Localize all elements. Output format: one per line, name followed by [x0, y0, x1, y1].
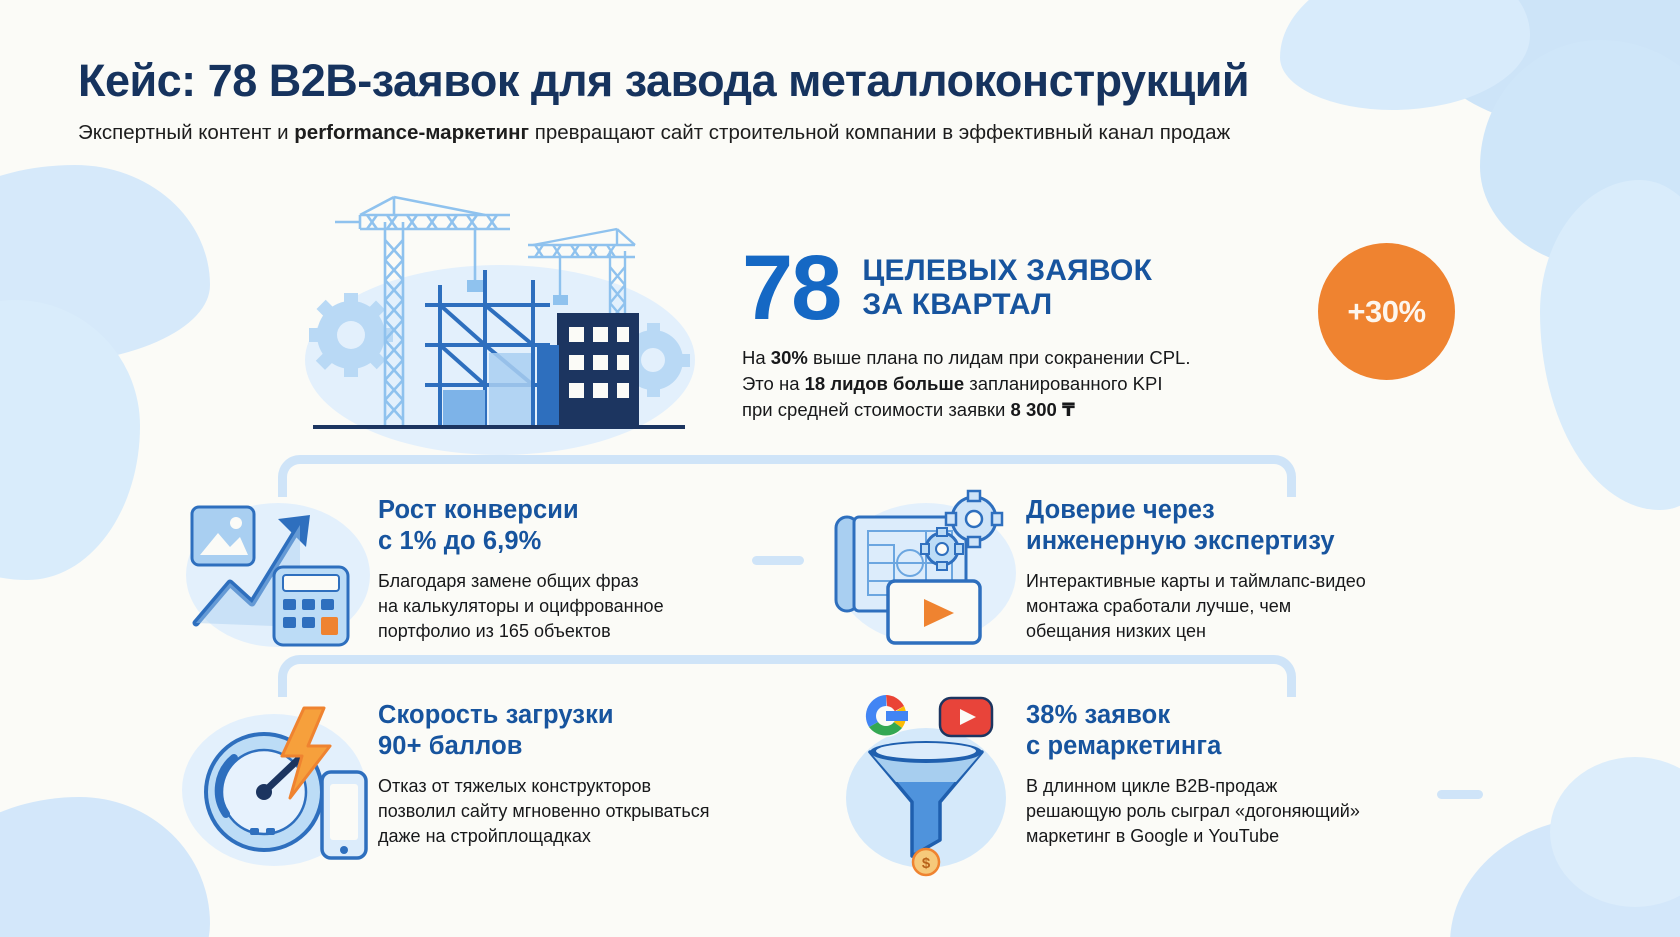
video-player-icon — [888, 581, 980, 643]
hero-statistic: 78 ЦЕЛЕВЫХ ЗАЯВОК ЗА КВАРТАЛ На 30% выше… — [742, 248, 1190, 424]
image-placeholder-icon — [192, 507, 254, 565]
feature-card-conversion-title: Рост конверсии с 1% до 6,9% — [378, 495, 664, 557]
building-dark — [557, 313, 639, 425]
google-icon — [865, 695, 908, 737]
hero-stat-label-line1: ЦЕЛЕВЫХ ЗАЯВОК — [862, 254, 1152, 289]
feature-card-conversion-body: Рост конверсии с 1% до 6,9% Благодаря за… — [378, 485, 664, 644]
hero-desc-line-3: при средней стоимости заявки 8 300 ₸ — [742, 397, 1190, 423]
svg-text:$: $ — [922, 855, 931, 872]
desc3b: 8 300 ₸ — [1011, 399, 1075, 420]
card3-text-l3: даже на стройплощадках — [378, 824, 710, 849]
desc1a: На — [742, 347, 771, 368]
growth-badge-label: +30% — [1347, 294, 1425, 330]
card1-text-l3: портфолио из 165 объектов — [378, 619, 664, 644]
crane-right-hook — [553, 295, 568, 305]
subtitle-text-1: Экспертный контент и — [78, 121, 294, 144]
card3-title-l2: 90+ баллов — [378, 731, 710, 762]
desc2c: запланированного KPI — [964, 373, 1162, 394]
growth-badge: +30% — [1318, 243, 1455, 380]
card4-text-l1: В длинном цикле B2B-продаж — [1026, 774, 1360, 799]
smartphone-icon — [322, 772, 366, 858]
card2-title-l1: Доверие через — [1026, 495, 1366, 526]
feature-card-speed-text: Отказ от тяжелых конструкторов позволил … — [378, 774, 710, 848]
card3-text-l2: позволил сайту мгновенно открываться — [378, 799, 710, 824]
card1-title-l1: Рост конверсии — [378, 495, 664, 526]
card4-text-l2: решающую роль сыграл «догоняющий» — [1026, 799, 1360, 824]
feature-card-speed-title: Скорость загрузки 90+ баллов — [378, 700, 710, 762]
calculator-accent-key — [321, 617, 338, 635]
card3-title-l1: Скорость загрузки — [378, 700, 710, 731]
building-block-2 — [489, 353, 531, 425]
card2-text-l2: монтажа сработали лучше, чем — [1026, 594, 1366, 619]
desc3a: при средней стоимости заявки — [742, 399, 1011, 420]
feature-card-remarketing: $ 38% заявок с ремаркетинга В длинном ци… — [826, 690, 1466, 875]
building-block-1 — [443, 390, 485, 426]
card1-text-l1: Благодаря замене общих фраз — [378, 569, 664, 594]
hero-stat-label: ЦЕЛЕВЫХ ЗАЯВОК ЗА КВАРТАЛ — [862, 254, 1152, 323]
card2-title-l2: инженерную экспертизу — [1026, 526, 1366, 557]
feature-card-conversion-text: Благодаря замене общих фраз на калькулят… — [378, 569, 664, 643]
crane-left-hook — [467, 280, 485, 292]
building-dark-wing — [537, 345, 559, 425]
calculator-icon — [274, 567, 348, 645]
infographic-canvas: Кейс: 78 B2B-заявок для завода металлоко… — [0, 0, 1680, 937]
hero-stat-description: На 30% выше плана по лидам при сокранени… — [742, 345, 1190, 424]
feature-card-trust: Доверие через инженерную экспертизу Инте… — [826, 485, 1466, 655]
blueprint-gears-video-icon — [826, 485, 1026, 655]
feature-card-speed: Скорость загрузки 90+ баллов Отказ от тя… — [178, 690, 798, 875]
card2-text-l3: обещания низких цен — [1026, 619, 1366, 644]
subtitle-emphasis: performance-маркетинг — [294, 121, 529, 144]
gear-left — [309, 293, 393, 377]
desc2a: Это на — [742, 373, 805, 394]
speedometer-lightning-phone-icon — [178, 690, 378, 875]
decor-blob-right-1 — [1540, 180, 1680, 510]
desc1c: выше плана по лидам при сокранении CPL. — [808, 347, 1191, 368]
card4-title-l1: 38% заявок — [1026, 700, 1360, 731]
header: Кейс: 78 B2B-заявок для завода металлоко… — [78, 56, 1620, 147]
hero-desc-line-1: На 30% выше плана по лидам при сокранени… — [742, 345, 1190, 371]
feature-card-trust-text: Интерактивные карты и таймлапс-видео мон… — [1026, 569, 1366, 643]
feature-card-remarketing-body: 38% заявок с ремаркетинга В длинном цикл… — [1026, 690, 1360, 849]
card1-title-l2: с 1% до 6,9% — [378, 526, 664, 557]
hero-stat-headline: 78 ЦЕЛЕВЫХ ЗАЯВОК ЗА КВАРТАЛ — [742, 248, 1190, 329]
page-title: Кейс: 78 B2B-заявок для завода металлоко… — [78, 56, 1620, 106]
card3-text-l1: Отказ от тяжелых конструкторов — [378, 774, 710, 799]
youtube-icon — [940, 698, 992, 736]
construction-scene-svg — [285, 185, 715, 460]
card2-text-l1: Интерактивные карты и таймлапс-видео — [1026, 569, 1366, 594]
hero-desc-line-2: Это на 18 лидов больше запланированного … — [742, 371, 1190, 397]
funnel-google-youtube-icon: $ — [826, 690, 1026, 875]
feature-card-trust-title: Доверие через инженерную экспертизу — [1026, 495, 1366, 557]
coin-icon: $ — [913, 849, 939, 875]
hero-stat-number: 78 — [742, 248, 840, 329]
construction-cranes-building-illustration — [285, 185, 715, 460]
feature-card-trust-body: Доверие через инженерную экспертизу Инте… — [1026, 485, 1366, 644]
feature-card-remarketing-text: В длинном цикле B2B-продаж решающую роль… — [1026, 774, 1360, 848]
feature-card-speed-body: Скорость загрузки 90+ баллов Отказ от тя… — [378, 690, 710, 849]
hero-stat-label-line2: ЗА КВАРТАЛ — [862, 288, 1152, 323]
chart-growth-calculator-icon — [178, 485, 378, 655]
card1-text-l2: на калькуляторы и оцифрованное — [378, 594, 664, 619]
subtitle-text-2: превращают сайт строительной компании в … — [529, 121, 1230, 144]
page-subtitle: Экспертный контент и performance-маркети… — [78, 120, 1620, 147]
desc1b: 30% — [771, 347, 808, 368]
card4-text-l3: маркетинг в Google и YouTube — [1026, 824, 1360, 849]
feature-card-conversion: Рост конверсии с 1% до 6,9% Благодаря за… — [178, 485, 778, 655]
card4-title-l2: с ремаркетинга — [1026, 731, 1360, 762]
feature-card-remarketing-title: 38% заявок с ремаркетинга — [1026, 700, 1360, 762]
desc2b: 18 лидов больше — [805, 373, 965, 394]
